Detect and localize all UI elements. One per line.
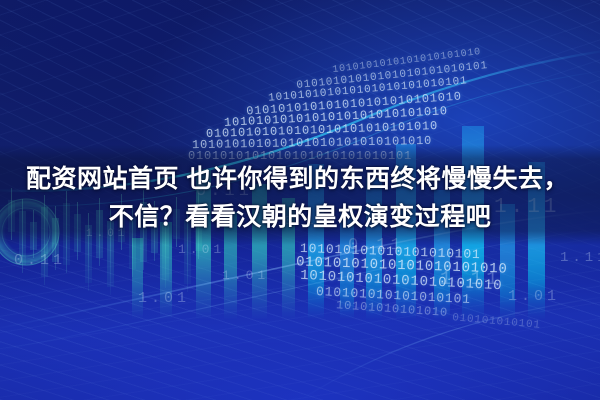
finance-banner-image: 1010101010101010101010010101010101010101… [0,0,600,400]
headline-line-2: 不信？看看汉朝的皇权演变过程吧 [20,198,580,236]
binary-row: 010101010101 [452,312,542,332]
headline-line-1: 配资网站首页 也许你得到的东西终将慢慢失去， [20,160,580,198]
page-title: 配资网站首页 也许你得到的东西终将慢慢失去， 不信？看看汉朝的皇权演变过程吧 [20,160,580,236]
